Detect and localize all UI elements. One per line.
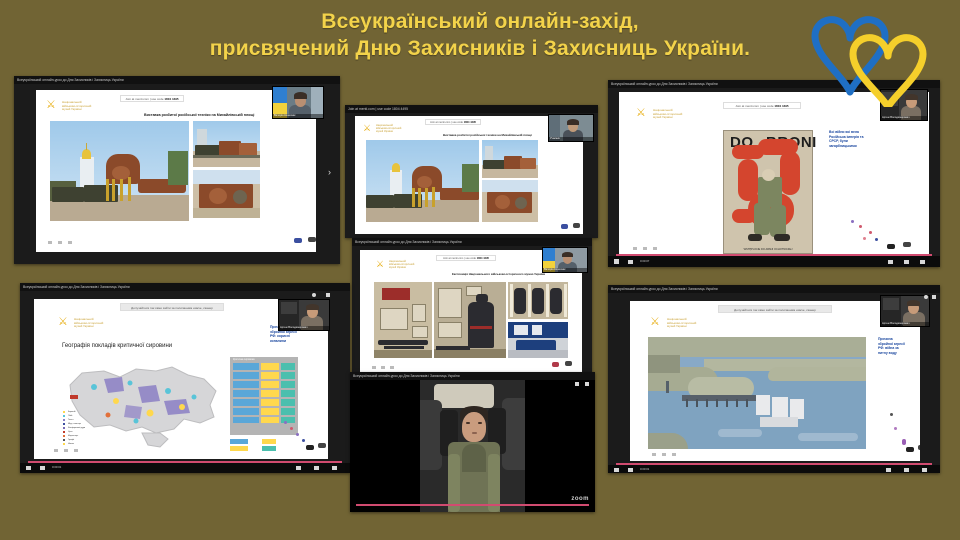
photo-equipment-row (482, 140, 538, 178)
screenshot-soldier-video[interactable]: Всеукраїнський онлайн-урок до Дня Захисн… (350, 372, 595, 512)
volume-icon[interactable] (628, 468, 633, 472)
participant-name: Артем Володимирович (279, 326, 329, 330)
photo-museum-display (508, 322, 568, 358)
slide-prev-button[interactable] (372, 366, 376, 369)
participant-name: Артем Володимирович (881, 116, 927, 120)
reaction-icon (561, 224, 568, 229)
menti-banner: Join at menti.com | use code 1804 4495 (436, 255, 496, 261)
slide-heading: Виставка розбитої російської техніки на … (443, 133, 532, 137)
expand-icon[interactable] (932, 295, 936, 299)
do-broni-poster: DO BRONI WSTĘPUJCIE DO ARMJI OCHOTNICZEJ (723, 130, 813, 254)
share-stage: ⚔ Національний військово-історичний музе… (608, 293, 940, 473)
photo-museum-uniforms (508, 282, 568, 319)
legend-item: Марганець (68, 435, 78, 437)
ukraine-map (64, 357, 224, 449)
menti-code: 1804 4495 (477, 257, 489, 260)
slide-prev-button[interactable] (633, 247, 637, 250)
reaction-icon-2 (918, 445, 920, 450)
screenshot-tanks-center[interactable]: Join at menti.com | use code 1804 4495 ⚔… (345, 105, 598, 238)
tryzub-icon: ⚔ (376, 259, 384, 270)
playback-time: 0:00:07 (640, 259, 649, 263)
slide-next-button[interactable] (653, 247, 657, 250)
museum-logo-text: Національний військово-історичний музей … (389, 260, 414, 269)
screenshot-tanks-left[interactable]: Всеукраїнський онлайн-урок до Дня Захисн… (14, 76, 340, 264)
photo-wrecked-vehicle (193, 170, 260, 218)
reaction-icon-2 (318, 443, 326, 448)
photo-destroyed-dam (648, 337, 866, 449)
playback-time: 0:00:01 (52, 465, 61, 469)
window-title-bar: Всеукраїнський онлайн-урок до Дня Захисн… (20, 283, 350, 291)
legend-item: Фосфоритові руди (68, 427, 85, 429)
participant-thumbnail[interactable]: Учасник (548, 114, 594, 142)
screenshot-museum[interactable]: Всеукраїнський онлайн-урок до Дня Захисн… (352, 238, 592, 378)
museum-logo-text: Національний військово-історичний музей … (74, 318, 103, 329)
slide-play-button[interactable] (381, 366, 385, 369)
screenshot-map[interactable]: Всеукраїнський онлайн-урок до Дня Захисн… (20, 283, 350, 473)
photo-equipment-row (193, 121, 260, 167)
slide-sidenote: Причина збройної агресії РФ: війна за пи… (878, 337, 920, 355)
slide-play-button[interactable] (64, 449, 68, 452)
fullscreen-icon[interactable] (920, 260, 925, 264)
museum-logo-text: Національний військово-історичний музей … (62, 101, 91, 112)
legend-item: Уран (68, 431, 73, 433)
window-title-bar: Всеукраїнський онлайн-урок до Дня Захисн… (350, 372, 595, 380)
close-icon[interactable] (312, 293, 316, 297)
slide-sidenote: Всі війни які вела Російська імперія та … (829, 130, 909, 148)
zoom-watermark: zoom (571, 496, 589, 502)
slide-heading: Виставка розбитої російської техніки на … (144, 113, 254, 117)
share-stage: ⚔ Національний військово-історичний музе… (345, 113, 598, 238)
player-control-bar: 0:00:07 (608, 256, 940, 267)
settings-gear-icon[interactable] (904, 260, 909, 264)
tryzub-icon: ⚔ (58, 317, 68, 328)
participant-thumbnail[interactable]: Вікторія Колесник (272, 86, 324, 119)
slide-play-button[interactable] (58, 241, 62, 244)
presentation-slide: ⚔ Національний військово-історичний музе… (630, 301, 920, 461)
legend-item: Берилій (68, 411, 75, 413)
menti-code: 1804 4495 (774, 104, 788, 108)
menti-banner-text: Join at menti.com | use code (735, 104, 773, 108)
menti-banner-text: Join at menti.com | use code (125, 97, 163, 101)
reaction-icon (306, 445, 314, 450)
screenshot-dam[interactable]: Всеукраїнський онлайн-урок до Дня Захисн… (608, 285, 940, 473)
reaction-icon (906, 447, 914, 452)
player-control-bar: 0:00:01 (20, 463, 350, 473)
slide-heading: Експозиція Національного військово-істор… (452, 272, 545, 276)
museum-logo-text: Національний військово-історичний музей … (376, 124, 401, 133)
legend-item: Мідь, свинець (68, 423, 81, 425)
ukraine-hearts-logo (803, 2, 938, 107)
reaction-icon-2 (903, 242, 911, 247)
expand-icon[interactable] (326, 293, 330, 297)
video-stage: zoom (350, 380, 595, 512)
participant-name: Учасник (549, 137, 593, 141)
menti-banner: Join at menti.com | use code 1804 4495 (723, 102, 801, 109)
participant-thumbnail[interactable]: Артем Володимирович (880, 295, 930, 327)
tryzub-icon: ⚔ (363, 123, 371, 134)
reaction-icon-2 (565, 361, 572, 366)
slide-next-button[interactable] (74, 449, 78, 452)
tryzub-icon: ⚔ (636, 108, 646, 119)
slide-prev-button[interactable] (48, 241, 52, 244)
share-stage: ⚔ Національний військово-історичний музе… (352, 246, 592, 378)
volume-icon[interactable] (40, 466, 45, 470)
pause-button[interactable] (26, 466, 31, 470)
fullscreen-icon[interactable] (922, 468, 927, 472)
reaction-icon (552, 362, 559, 367)
menti-banner: Join at menti.com | use code 1804 4495 (120, 95, 184, 102)
screenshot-poster[interactable]: Всеукраїнський онлайн-урок до Дня Захисн… (608, 80, 940, 267)
menti-code: 1804 4495 (464, 121, 476, 124)
reaction-icon (887, 244, 895, 249)
poster-caption: WSTĘPUJCIE DO ARMJI OCHOTNICZEJ (728, 248, 808, 251)
museum-logo-text: Національний військово-історичний музей … (653, 109, 682, 120)
captions-icon[interactable] (886, 468, 891, 472)
menti-code: 1804 4495 (164, 97, 178, 101)
close-icon[interactable] (924, 295, 928, 299)
close-icon[interactable] (575, 382, 579, 386)
participant-name: Вікторія Колесник (543, 268, 587, 272)
slide-prev-button[interactable] (54, 449, 58, 452)
slide-play-button[interactable] (643, 247, 647, 250)
slide-next-button[interactable] (390, 366, 394, 369)
pause-button[interactable] (614, 259, 619, 264)
share-stage: ⚔ Національний військово-історичний музе… (20, 291, 350, 473)
slide-title: Географія покладів критичної сировини (62, 343, 172, 349)
window-title-bar: Всеукраїнський онлайн-урок до Дня Захисн… (14, 76, 340, 84)
photo-museum-room-1 (374, 282, 432, 358)
participant-thumbnail[interactable]: Вікторія Колесник (542, 247, 588, 273)
slide-next-button[interactable] (68, 241, 72, 244)
window-title-bar: Всеукраїнський онлайн-урок до Дня Захисн… (352, 238, 592, 246)
player-control-bar: 0:00:01 (608, 465, 940, 473)
participant-name: Вікторія Колесник (273, 114, 323, 118)
reaction-icon-2 (573, 223, 580, 228)
slide-play-button[interactable] (662, 453, 666, 456)
share-stage: ⚔ Національний військово-історичний музе… (14, 84, 340, 264)
window-title-bar: Join at menti.com | use code 1804 4495 (345, 105, 598, 113)
settings-gear-icon[interactable] (904, 468, 909, 472)
expand-icon[interactable] (585, 382, 589, 386)
tryzub-icon: ⚔ (46, 100, 56, 111)
menti-banner-text: Join at menti.com | use code (443, 257, 476, 260)
participant-thumbnail[interactable]: Артем Володимирович (278, 299, 330, 331)
photo-main-tanks (50, 121, 189, 221)
reaction-icon-2 (308, 237, 316, 242)
volume-icon[interactable] (628, 260, 633, 264)
share-stage: ⚔ Національний військово-історичний музе… (608, 88, 940, 267)
menti-banner: Join at menti.com | use code 1804 4495 (425, 119, 481, 125)
legend-item: Графіт (68, 439, 74, 441)
slide-next-button[interactable] (672, 453, 676, 456)
slide-prev-button[interactable] (652, 453, 656, 456)
captions-icon[interactable] (888, 260, 893, 264)
share-banner: Долучайтеся так само зайти за посиланням… (120, 303, 224, 311)
video-progress-bar[interactable] (356, 504, 589, 506)
tryzub-icon: ⚔ (650, 317, 660, 328)
fullscreen-icon[interactable] (332, 466, 337, 470)
critical-materials-table: Критична сировина (230, 357, 298, 435)
museum-logo-text: Національний військово-історичний музей … (667, 318, 696, 329)
window-title-bar: Всеукраїнський онлайн-урок до Дня Захисн… (608, 285, 940, 293)
legend-item: Літій (68, 415, 72, 417)
table-title: Критична сировина (233, 358, 255, 361)
settings-gear-icon[interactable] (314, 466, 319, 470)
reaction-icon (294, 238, 302, 243)
car-interior (420, 380, 525, 512)
participant-name: Артем Володимирович (881, 322, 929, 326)
photo-main-tanks (366, 140, 479, 222)
legend-item: Титан (68, 419, 73, 421)
menti-banner-text: Join at menti.com | use code (430, 121, 463, 124)
photo-museum-room-2 (434, 282, 506, 358)
next-slide-arrow-icon[interactable]: › (328, 168, 331, 177)
playback-time: 0:00:01 (640, 467, 649, 471)
legend-item: Нікель (68, 443, 74, 445)
captions-icon[interactable] (296, 466, 301, 470)
pause-button[interactable] (614, 468, 619, 472)
photo-wrecked-vehicle (482, 180, 538, 222)
share-banner: Долучайтеся так само зайти за посиланням… (718, 305, 832, 313)
